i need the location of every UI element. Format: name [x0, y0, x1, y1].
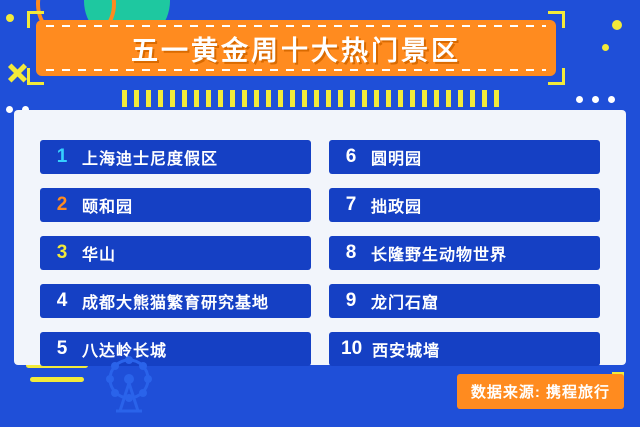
attraction-name: 上海迪士尼度假区 — [82, 145, 218, 169]
rank-number: 1 — [52, 146, 72, 168]
list-item[interactable]: 9 龙门石窟 — [329, 284, 600, 318]
rank-number: 8 — [341, 242, 361, 264]
dashed-line-bottom — [46, 69, 546, 71]
list-item[interactable]: 4 成都大熊猫繁育研究基地 — [40, 284, 311, 318]
title-banner: 五一黄金周十大热门景区 — [36, 20, 556, 76]
attraction-name: 成都大熊猫繁育研究基地 — [82, 289, 269, 313]
dot-decoration — [602, 44, 609, 51]
list-item[interactable]: 6 圆明园 — [329, 140, 600, 174]
dot-decoration — [6, 106, 13, 113]
ranking-column-left: 1 上海迪士尼度假区 2 颐和园 3 华山 4 成都大熊猫繁育研究基地 5 八达… — [40, 140, 311, 366]
rank-number: 9 — [341, 290, 361, 312]
list-item[interactable]: 5 八达岭长城 — [40, 332, 311, 366]
rank-number: 7 — [341, 194, 361, 216]
list-item[interactable]: 3 华山 — [40, 236, 311, 270]
dot-decoration — [576, 96, 583, 103]
rank-number: 2 — [52, 194, 72, 216]
dot-decoration — [608, 96, 615, 103]
list-item[interactable]: 10 西安城墙 — [329, 332, 600, 366]
attraction-name: 长隆野生动物世界 — [371, 241, 507, 265]
dot-decoration — [6, 14, 14, 22]
page-title: 五一黄金周十大热门景区 — [131, 29, 461, 68]
rank-number: 4 — [52, 290, 72, 312]
tick-row-decoration — [122, 90, 499, 107]
rank-number: 5 — [52, 338, 72, 360]
rank-number: 10 — [341, 338, 362, 360]
corner-bracket-top-right — [548, 11, 565, 28]
list-item[interactable]: 1 上海迪士尼度假区 — [40, 140, 311, 174]
x-cross-icon — [6, 62, 28, 84]
attraction-name: 圆明园 — [371, 145, 422, 169]
ranking-list: 1 上海迪士尼度假区 2 颐和园 3 华山 4 成都大熊猫繁育研究基地 5 八达… — [40, 140, 600, 366]
corner-bracket-bottom-right — [548, 68, 565, 85]
dashed-line-top — [46, 25, 546, 27]
dot-decoration — [612, 20, 622, 30]
title-bar: 五一黄金周十大热门景区 — [36, 20, 556, 76]
attraction-name: 华山 — [82, 241, 116, 265]
attraction-name: 西安城墙 — [372, 337, 440, 361]
list-item[interactable]: 2 颐和园 — [40, 188, 311, 222]
ranking-column-right: 6 圆明园 7 拙政园 8 长隆野生动物世界 9 龙门石窟 10 西安城墙 — [329, 140, 600, 366]
rank-number: 6 — [341, 146, 361, 168]
list-item[interactable]: 7 拙政园 — [329, 188, 600, 222]
corner-bracket-bottom-left — [27, 68, 44, 85]
rank-number: 3 — [52, 242, 72, 264]
attraction-name: 龙门石窟 — [371, 289, 439, 313]
ferris-wheel-icon — [96, 355, 162, 413]
corner-bracket-top-left — [27, 11, 44, 28]
data-source-badge: 数据来源: 携程旅行 — [457, 374, 624, 409]
attraction-name: 颐和园 — [82, 193, 133, 217]
ranking-card: 1 上海迪士尼度假区 2 颐和园 3 华山 4 成都大熊猫繁育研究基地 5 八达… — [14, 110, 626, 365]
attraction-name: 拙政园 — [371, 193, 422, 217]
dot-decoration — [592, 96, 599, 103]
list-item[interactable]: 8 长隆野生动物世界 — [329, 236, 600, 270]
